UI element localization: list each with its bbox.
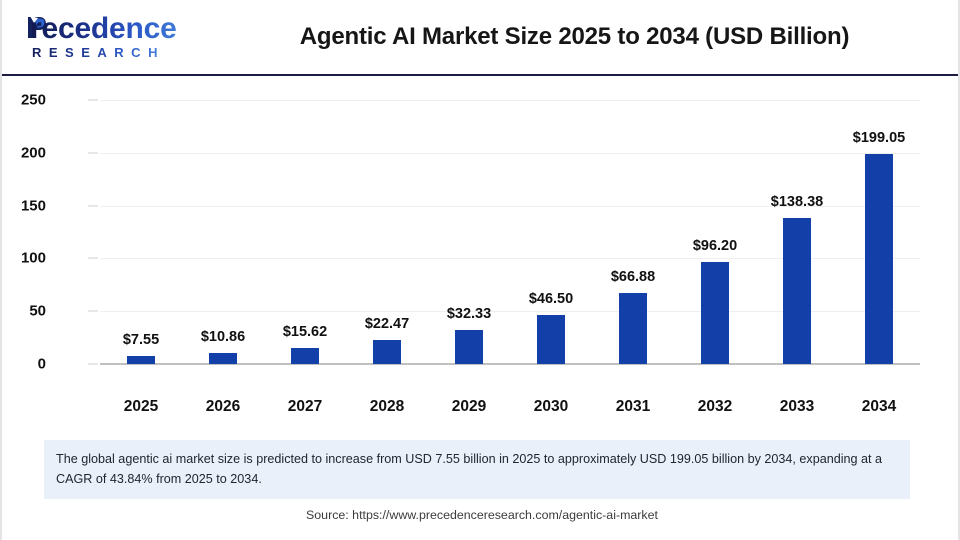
bar[interactable] [373,340,401,364]
y-axis-tick-label: 0 [0,356,46,373]
bar[interactable] [783,218,811,364]
y-axis-tick-mark [88,311,98,312]
y-axis-tick-label: 200 [0,144,46,161]
bar-value-label: $199.05 [829,130,929,146]
bar-value-label: $96.20 [665,238,765,254]
logo-subtext: RESEARCH [32,45,165,60]
source-line: Source: https://www.precedenceresearch.c… [2,508,960,522]
y-axis-tick-mark [88,258,98,259]
bar[interactable] [619,293,647,364]
y-axis-tick-mark [88,100,98,101]
bar[interactable] [127,356,155,364]
gridline [100,153,920,154]
y-axis-tick-label: 150 [0,197,46,214]
bar[interactable] [209,353,237,364]
plot-region: 050100150200250$7.552025$10.862026$15.62… [100,100,920,364]
bar-value-label: $46.50 [501,291,601,307]
bar[interactable] [291,348,319,364]
bar[interactable] [865,154,893,364]
y-axis-tick-mark [88,152,98,153]
page-title: Agentic AI Market Size 2025 to 2034 (USD… [202,23,947,51]
logo-wordmark: recedence [30,12,177,46]
bar-value-label: $138.38 [747,194,847,210]
header: recedence RESEARCH Agentic AI Market Siz… [2,0,960,76]
gridline [100,100,920,101]
bar[interactable] [455,330,483,364]
y-axis-tick-label: 50 [0,303,46,320]
x-axis-tick-label: 2034 [829,398,929,416]
y-axis-tick-label: 250 [0,92,46,109]
chart-infographic: recedence RESEARCH Agentic AI Market Siz… [0,0,960,540]
y-axis-tick-mark [88,205,98,206]
y-axis-tick-mark [88,364,98,365]
bar[interactable] [701,262,729,364]
precedence-research-logo: recedence RESEARCH [12,12,177,64]
caption-box: The global agentic ai market size is pre… [44,440,910,499]
bar-value-label: $32.33 [419,306,519,322]
bar-value-label: $66.88 [583,269,683,285]
bar[interactable] [537,315,565,364]
chart-area: 050100150200250$7.552025$10.862026$15.62… [2,76,960,426]
y-axis-tick-label: 100 [0,250,46,267]
